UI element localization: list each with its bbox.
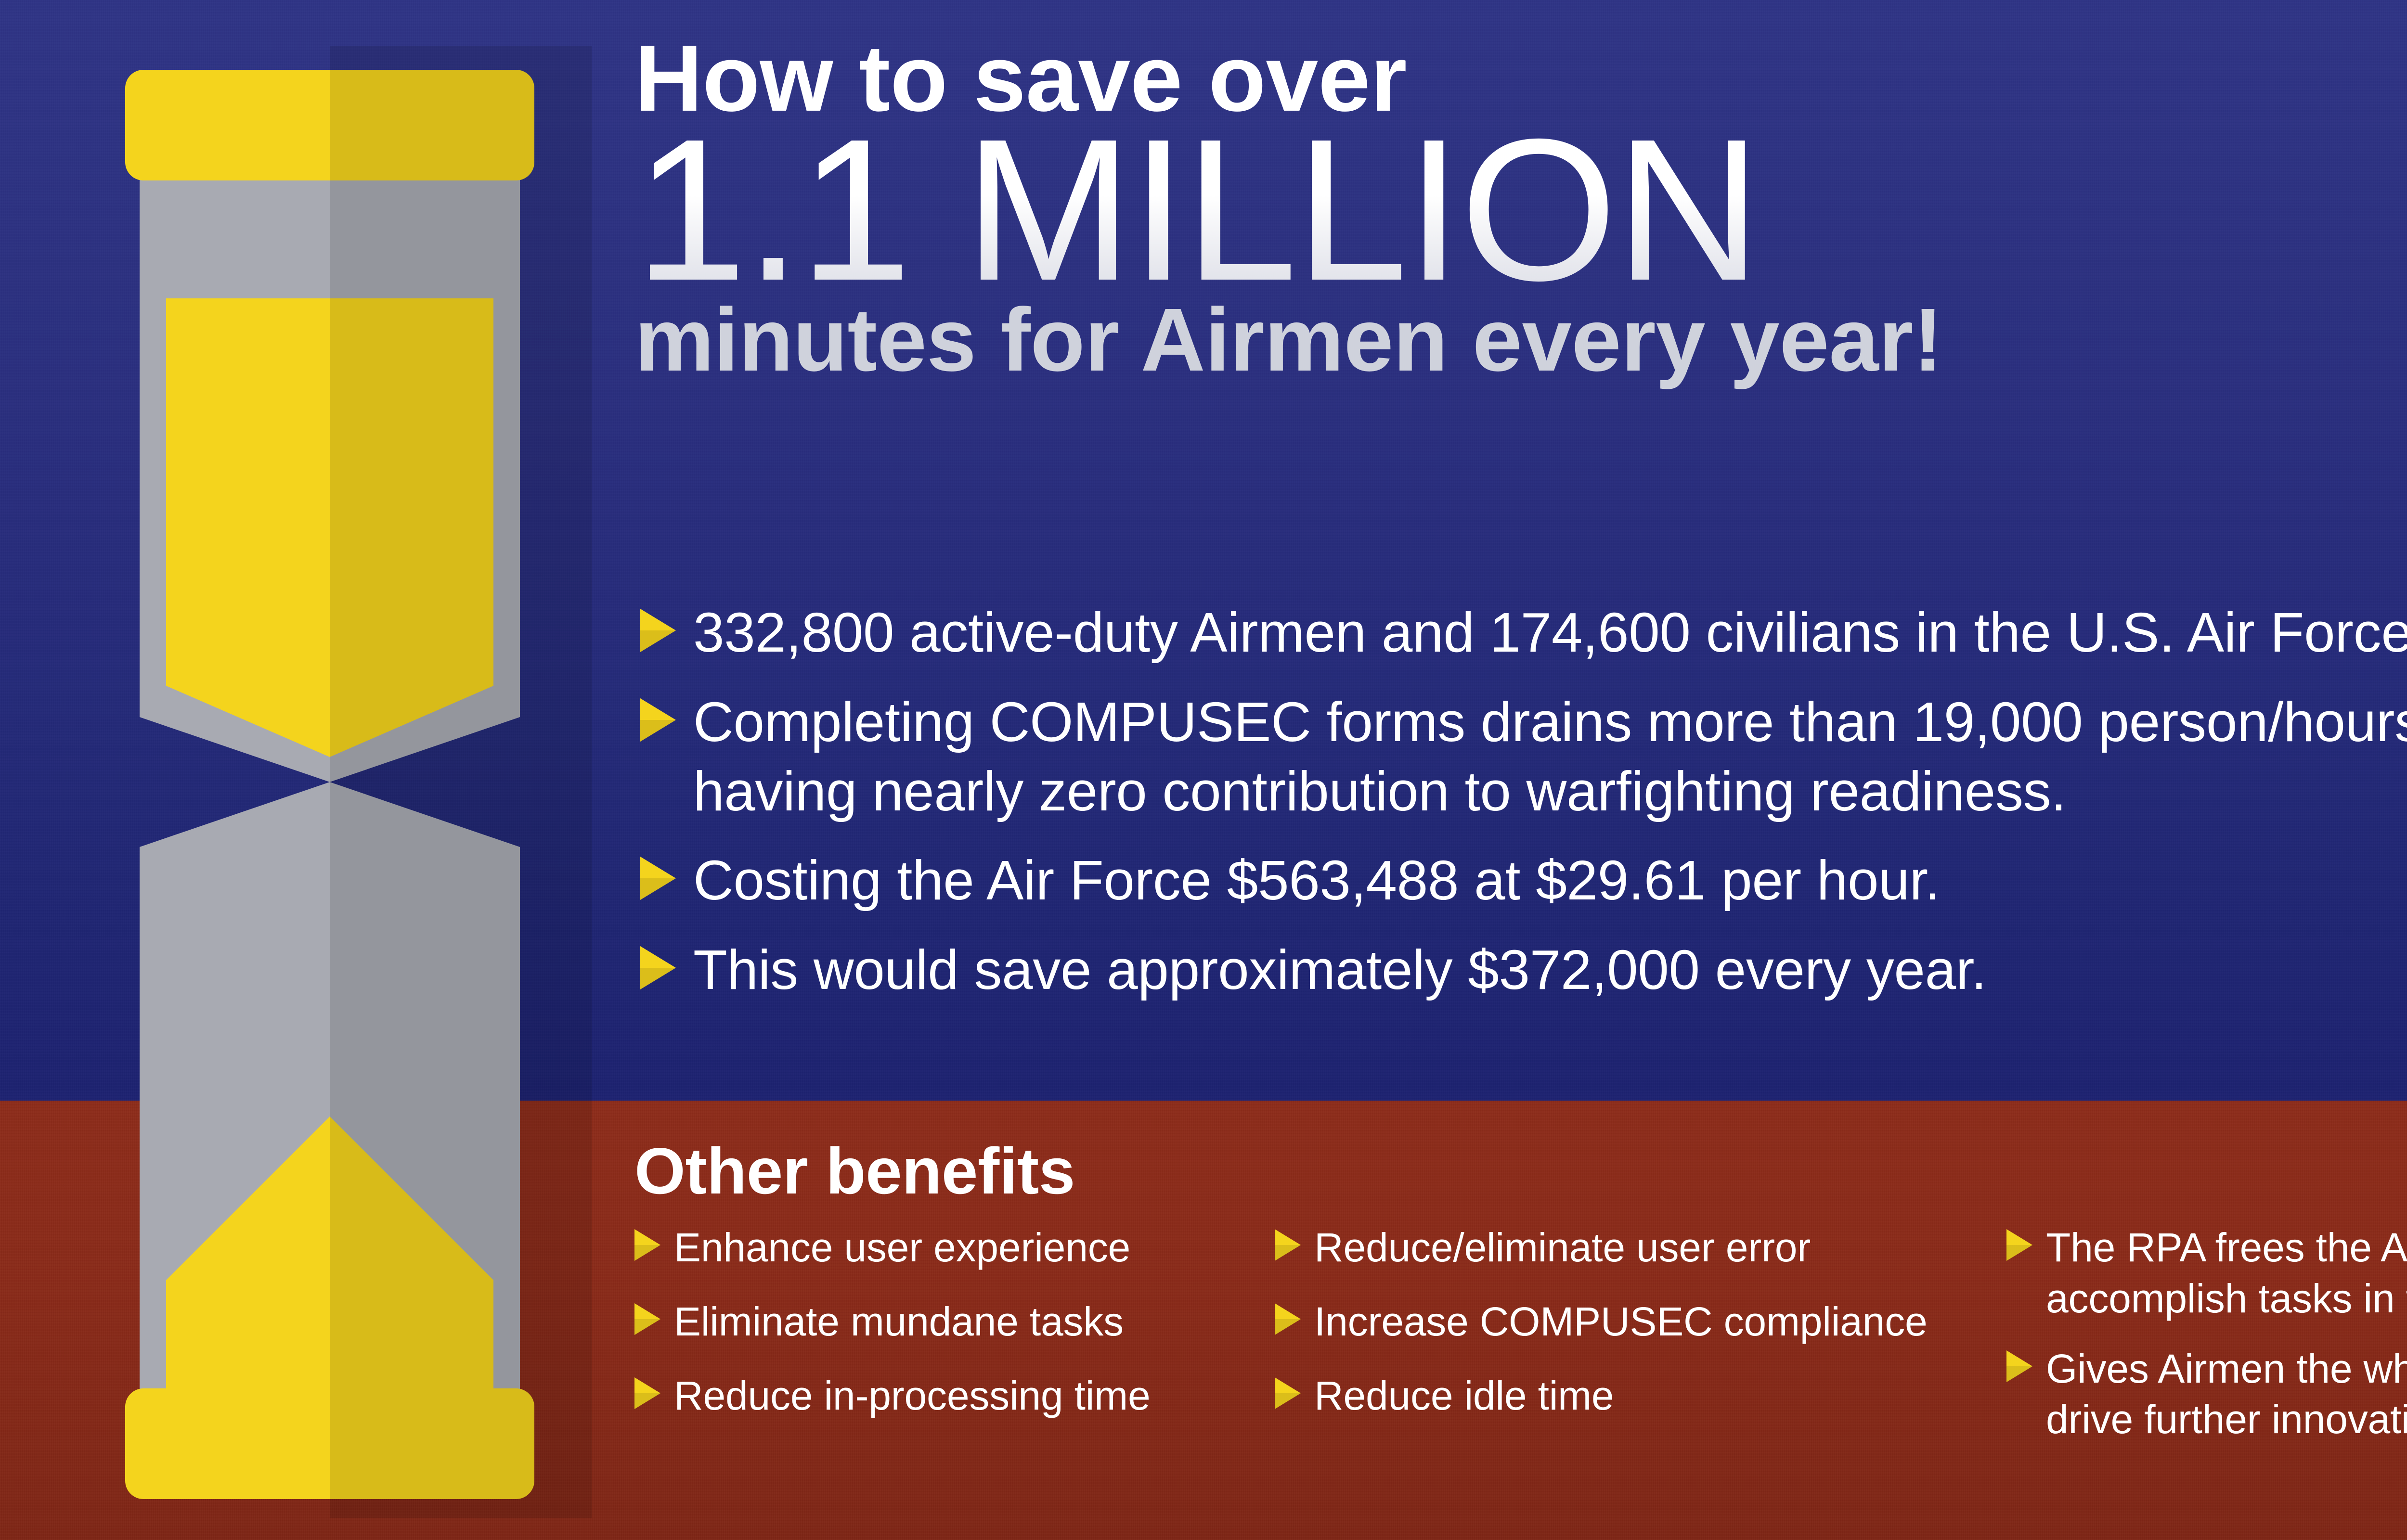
main-bullet-text: 332,800 active-duty Airmen and 174,600 c… — [693, 598, 2407, 667]
benefit-item: Reduce/eliminate user error — [1275, 1222, 2006, 1273]
main-bullet-item: 332,800 active-duty Airmen and 174,600 c… — [640, 598, 2407, 667]
main-bullet-item: This would save approximately $372,000 e… — [640, 936, 2407, 1005]
triangle-right-icon — [1275, 1303, 1301, 1335]
headline-line-3: minutes for Airmen every year! — [634, 295, 2407, 386]
triangle-right-icon — [640, 698, 676, 742]
triangle-right-icon — [634, 1377, 660, 1409]
benefits-column-1: Enhance user experience Eliminate mundan… — [634, 1222, 1275, 1464]
benefit-text: Reduce in-processing time — [674, 1371, 1275, 1422]
benefit-item: Enhance user experience — [634, 1222, 1275, 1273]
other-benefits-columns: Enhance user experience Eliminate mundan… — [634, 1222, 2407, 1464]
benefit-text: Reduce/eliminate user error — [1314, 1222, 2006, 1273]
triangle-right-icon — [1275, 1377, 1301, 1409]
triangle-right-icon — [2006, 1229, 2032, 1261]
triangle-right-icon — [2006, 1350, 2032, 1382]
other-benefits-title: Other benefits — [634, 1133, 1075, 1208]
infographic-poster: How to save over 1.1 MILLION minutes for… — [0, 0, 2407, 1540]
benefit-item: Gives Airmen the white space to drive fu… — [2006, 1344, 2407, 1446]
benefit-item: Increase COMPUSEC compliance — [1275, 1296, 2006, 1347]
triangle-right-icon — [640, 857, 676, 900]
benefit-text: Gives Airmen the white space to drive fu… — [2046, 1344, 2407, 1446]
triangle-right-icon — [1275, 1229, 1301, 1261]
benefit-item: Reduce in-processing time — [634, 1371, 1275, 1422]
triangle-right-icon — [634, 1229, 660, 1261]
benefit-item: Reduce idle time — [1275, 1371, 2006, 1422]
headline-big-number: 1.1 MILLION — [634, 117, 2407, 303]
triangle-right-icon — [634, 1303, 660, 1335]
headline-block: How to save over 1.1 MILLION minutes for… — [634, 29, 2407, 386]
main-bullet-item: Completing COMPUSEC forms drains more th… — [640, 688, 2407, 826]
benefit-item: Eliminate mundane tasks — [634, 1296, 1275, 1347]
benefit-text: Increase COMPUSEC compliance — [1314, 1296, 2006, 1347]
main-bullet-text: This would save approximately $372,000 e… — [693, 936, 2407, 1005]
triangle-right-icon — [640, 609, 676, 652]
benefit-text: The RPA frees the Airman to accomplish t… — [2046, 1222, 2407, 1324]
main-bullet-list: 332,800 active-duty Airmen and 174,600 c… — [640, 598, 2407, 1005]
benefit-text: Reduce idle time — [1314, 1371, 2006, 1422]
benefits-column-3: The RPA frees the Airman to accomplish t… — [2006, 1222, 2407, 1464]
benefit-item: The RPA frees the Airman to accomplish t… — [2006, 1222, 2407, 1324]
main-bullet-text: Completing COMPUSEC forms drains more th… — [693, 688, 2407, 826]
triangle-right-icon — [640, 946, 676, 989]
benefit-text: Enhance user experience — [674, 1222, 1275, 1273]
hourglass-graphic — [67, 46, 592, 1518]
main-bullet-item: Costing the Air Force $563,488 at $29.61… — [640, 846, 2407, 915]
benefits-column-2: Reduce/eliminate user error Increase COM… — [1275, 1222, 2006, 1464]
main-bullet-text: Costing the Air Force $563,488 at $29.61… — [693, 846, 2407, 915]
hourglass-shade-overlay — [330, 46, 592, 1518]
benefit-text: Eliminate mundane tasks — [674, 1296, 1275, 1347]
